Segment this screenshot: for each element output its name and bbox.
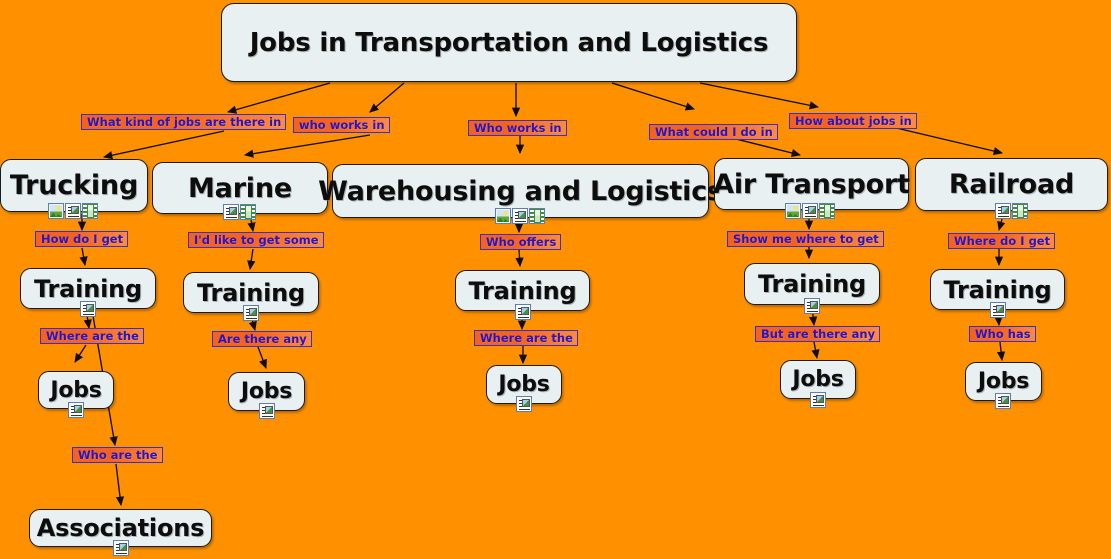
concept-map-canvas: Jobs in Transportation and Logistics Tru… [0,0,1111,559]
link-label-where-do-i-get[interactable]: Where do I get [948,233,1055,249]
film-icon[interactable] [819,203,835,219]
icon-strip-marine[interactable] [223,204,256,220]
node-label: Railroad [949,169,1074,200]
link-label-who-works-in-marine[interactable]: who works in [293,117,390,133]
icon-strip-training-air[interactable] [804,298,820,314]
link-text: Where are the [46,329,139,343]
edge-root-to-l5 [700,83,818,107]
document-icon[interactable] [68,402,84,418]
link-text: Who offers [486,235,556,249]
document-icon[interactable] [113,540,129,556]
edge-l5-to-rail [892,127,1002,153]
document-icon[interactable] [802,203,818,219]
document-icon[interactable] [810,392,826,408]
link-text: What kind of jobs are there in [87,115,281,129]
edge-l1-to-trucking [104,131,224,157]
link-label-but-are-there-any[interactable]: But are there any [755,326,880,342]
document-icon[interactable] [995,203,1011,219]
node-label: Training [758,270,866,298]
node-label: Jobs [792,367,843,392]
link-text: Show me where to get [733,232,879,246]
edge-l6-to-training1 [82,248,85,265]
link-text: But are there any [761,327,875,341]
node-root[interactable]: Jobs in Transportation and Logistics [221,3,797,82]
document-icon[interactable] [515,304,531,320]
icon-strip-training-trucking[interactable] [80,301,96,317]
document-icon[interactable] [243,305,259,321]
document-icon[interactable] [80,301,96,317]
film-icon[interactable] [1012,203,1028,219]
edge-l16-to-associations [116,464,121,505]
link-text: Where do I get [954,234,1050,248]
link-label-who-has[interactable]: Who has [969,326,1036,342]
node-label: Training [197,279,305,307]
edge-l15-to-jobs5 [1000,342,1002,360]
link-text: Where are the [480,331,573,345]
edge-l7-to-training2 [250,249,253,269]
link-text: How do I get [41,232,123,246]
node-label: Associations [37,514,204,542]
link-text: Who has [975,327,1031,341]
link-label-where-are-the-trucking[interactable]: Where are the [40,328,144,344]
node-label: Training [469,277,577,305]
node-label: Jobs [498,372,549,397]
node-label: Air Transport [713,169,910,200]
link-label-how-about-jobs-in[interactable]: How about jobs in [789,113,917,129]
icon-strip-jobs-warehousing[interactable] [516,396,532,412]
link-label-what-could-i-do-in[interactable]: What could I do in [649,124,778,140]
document-icon[interactable] [990,302,1006,318]
edge-root-to-l4 [612,83,694,109]
film-icon[interactable] [529,208,545,224]
document-icon[interactable] [223,204,239,220]
node-label: Training [944,276,1052,304]
document-icon[interactable] [512,208,528,224]
icon-strip-jobs-air[interactable] [810,392,826,408]
node-label: Jobs [50,378,101,403]
film-icon[interactable] [240,204,256,220]
icon-strip-jobs-rail[interactable] [995,393,1011,409]
picture-icon[interactable] [48,203,64,219]
icon-strip-trucking[interactable] [48,203,98,219]
document-icon[interactable] [804,298,820,314]
node-label: Marine [188,173,292,204]
edge-root-to-l2 [370,83,404,112]
icon-strip-railroad[interactable] [995,203,1028,219]
picture-icon[interactable] [785,203,801,219]
icon-strip-associations[interactable] [113,540,129,556]
icon-strip-warehousing[interactable] [495,208,545,224]
link-text: Are there any [218,332,307,346]
edge-l12-to-jobs2 [258,347,266,368]
link-label-who-offers[interactable]: Who offers [480,234,561,250]
picture-icon[interactable] [495,208,511,224]
icon-strip-jobs-marine[interactable] [259,403,275,419]
edge-l8-to-training3 [519,249,520,266]
document-icon[interactable] [516,396,532,412]
edge-root-to-l1 [228,83,330,112]
link-text: How about jobs in [795,114,912,128]
link-text: Who are the [78,448,158,462]
link-label-who-are-the[interactable]: Who are the [72,447,163,463]
edge-l11-to-jobs1 [75,345,86,362]
link-label-how-do-i-get[interactable]: How do I get [35,231,128,247]
document-icon[interactable] [995,393,1011,409]
icon-strip-training-marine[interactable] [243,305,259,321]
link-label-who-works-in-warehousing[interactable]: Who works in [468,120,567,136]
icon-strip-jobs-trucking[interactable] [68,402,84,418]
link-text: I'd like to get some [194,233,319,247]
icon-strip-air-transport[interactable] [785,203,835,219]
link-label-are-there-any[interactable]: Are there any [212,331,312,347]
link-label-where-are-the-warehousing[interactable]: Where are the [474,330,578,346]
icon-strip-training-warehousing[interactable] [515,304,531,320]
node-label: Jobs in Transportation and Logistics [250,28,769,58]
icon-strip-training-rail[interactable] [990,302,1006,318]
document-icon[interactable] [65,203,81,219]
edge-l2-to-marine [245,135,370,155]
link-text: What could I do in [655,125,773,139]
link-label-id-like-to-get-some[interactable]: I'd like to get some [188,232,324,248]
link-label-show-me-where-to-get[interactable]: Show me where to get [727,231,884,247]
node-label: Warehousing and Logistics [318,176,723,207]
node-label: Jobs [978,369,1029,394]
link-text: Who works in [474,121,562,135]
link-label-what-kind-of-jobs[interactable]: What kind of jobs are there in [81,114,286,130]
document-icon[interactable] [259,403,275,419]
node-label: Jobs [241,379,292,404]
edge-l14-to-jobs4 [814,342,817,358]
node-label: Trucking [10,170,138,201]
film-icon[interactable] [82,203,98,219]
link-text: who works in [299,118,385,132]
node-label: Training [34,275,142,303]
